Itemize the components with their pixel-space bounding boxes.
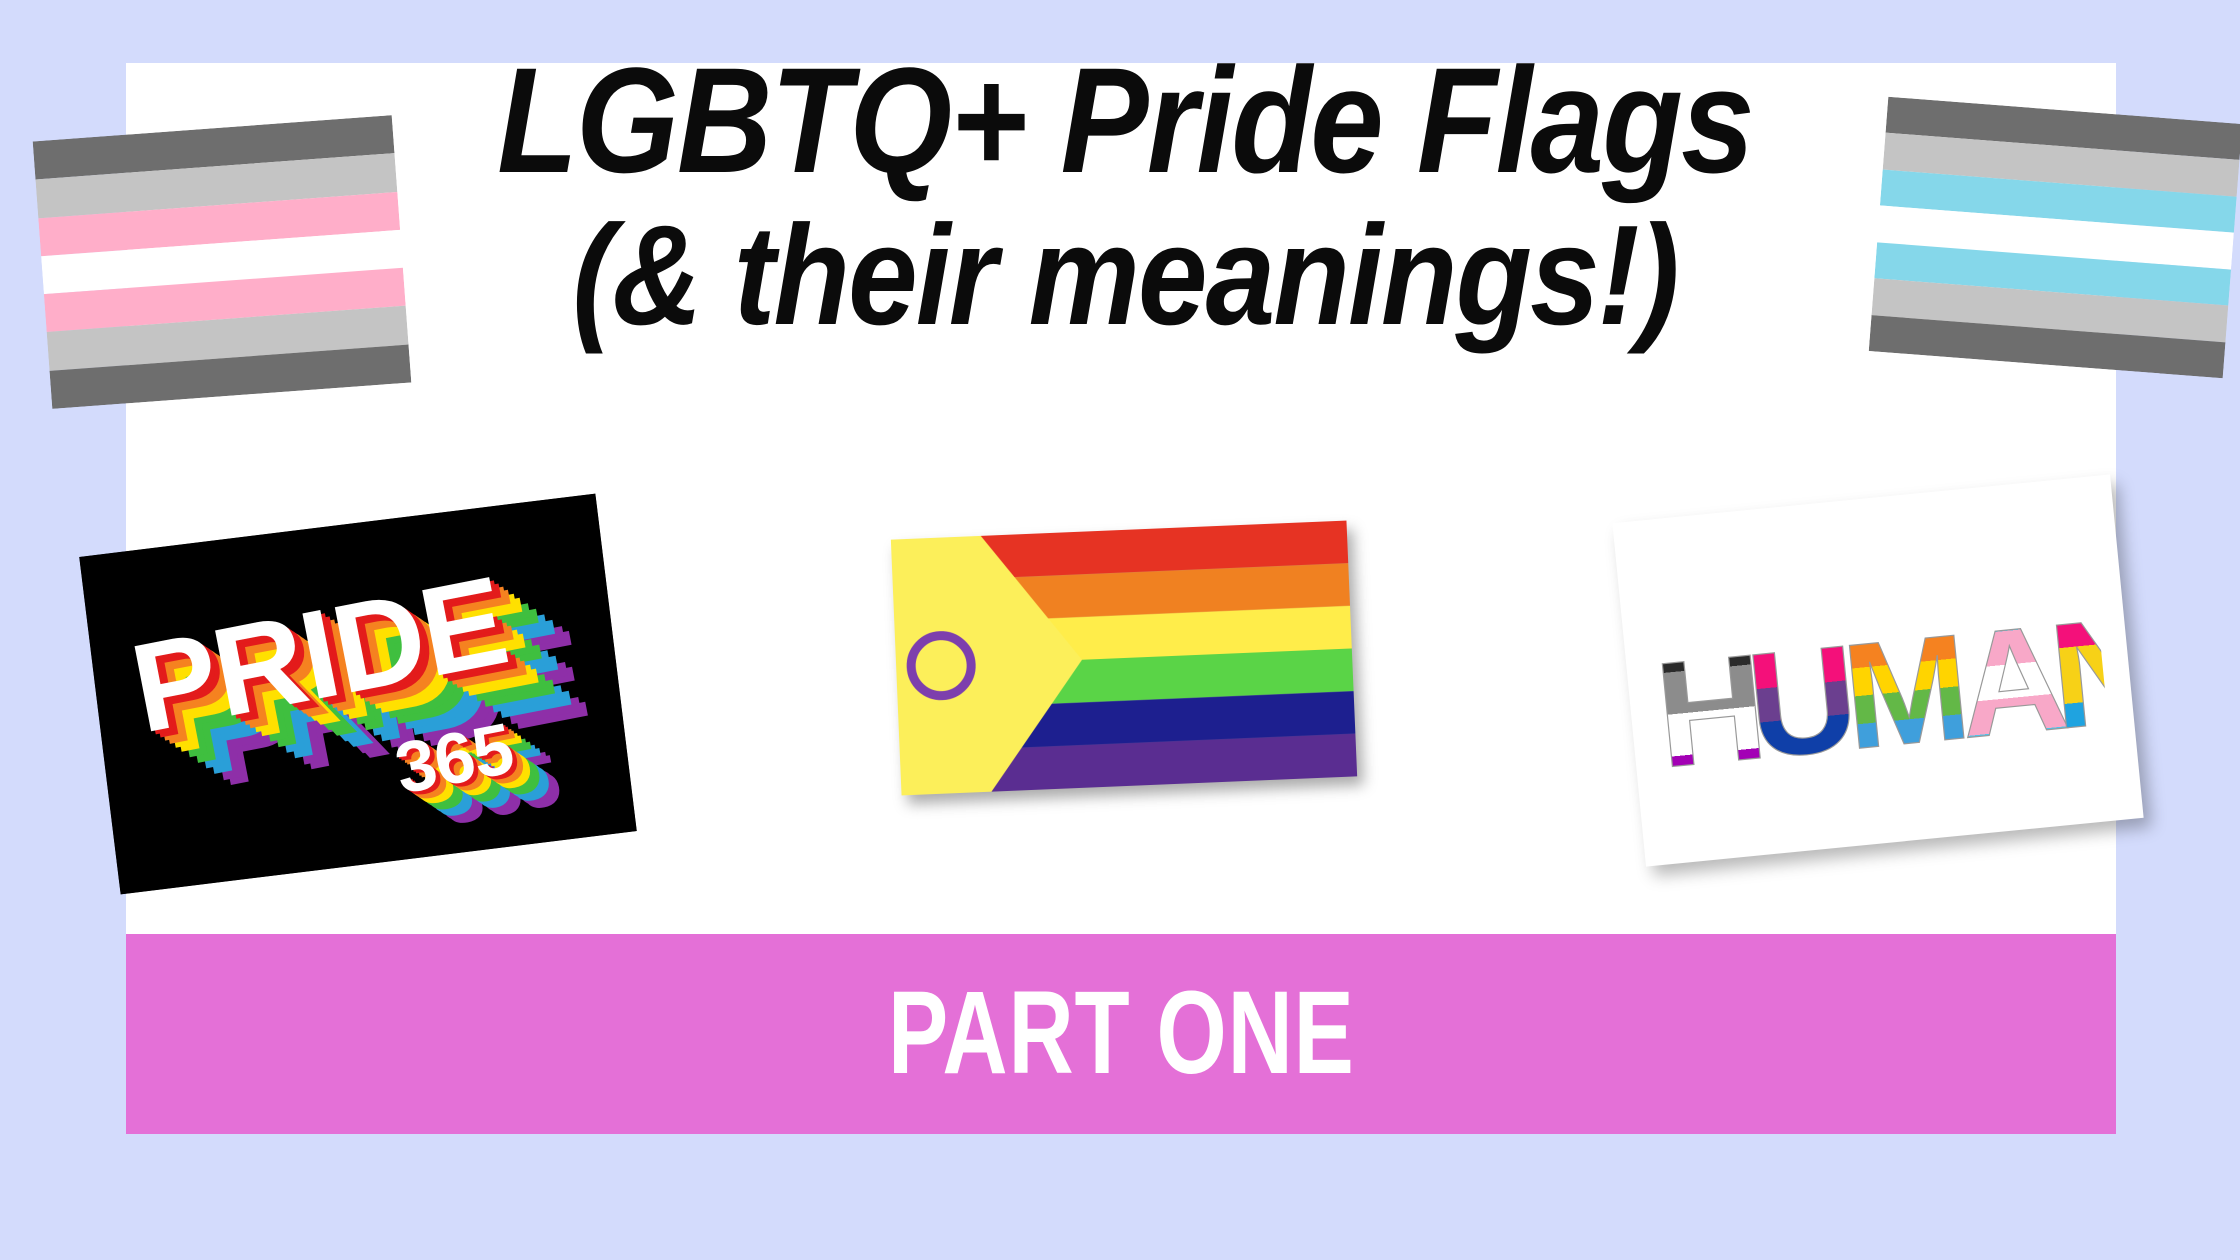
human-letter-m: M [1836, 602, 1971, 781]
part-one-banner: PART ONE [126, 934, 2116, 1134]
human-artwork: H U M A N [1644, 535, 2112, 808]
human-sticker: H U M A N [1612, 474, 2143, 866]
poster-canvas: LGBTQ+ Pride Flags (& their meanings!) [0, 0, 2240, 1260]
pride-365-sticker: PRIDE PRIDE PRIDE PRIDE PRIDE PRIDE PRID… [79, 494, 637, 895]
pride-365-artwork: PRIDE PRIDE PRIDE PRIDE PRIDE PRIDE PRID… [79, 494, 637, 895]
demigirl-flag [33, 115, 412, 409]
demiboy-flag [1869, 97, 2240, 378]
part-one-label: PART ONE [888, 967, 1355, 1101]
progress-pride-flag [891, 521, 1357, 796]
intersex-field [891, 536, 992, 796]
